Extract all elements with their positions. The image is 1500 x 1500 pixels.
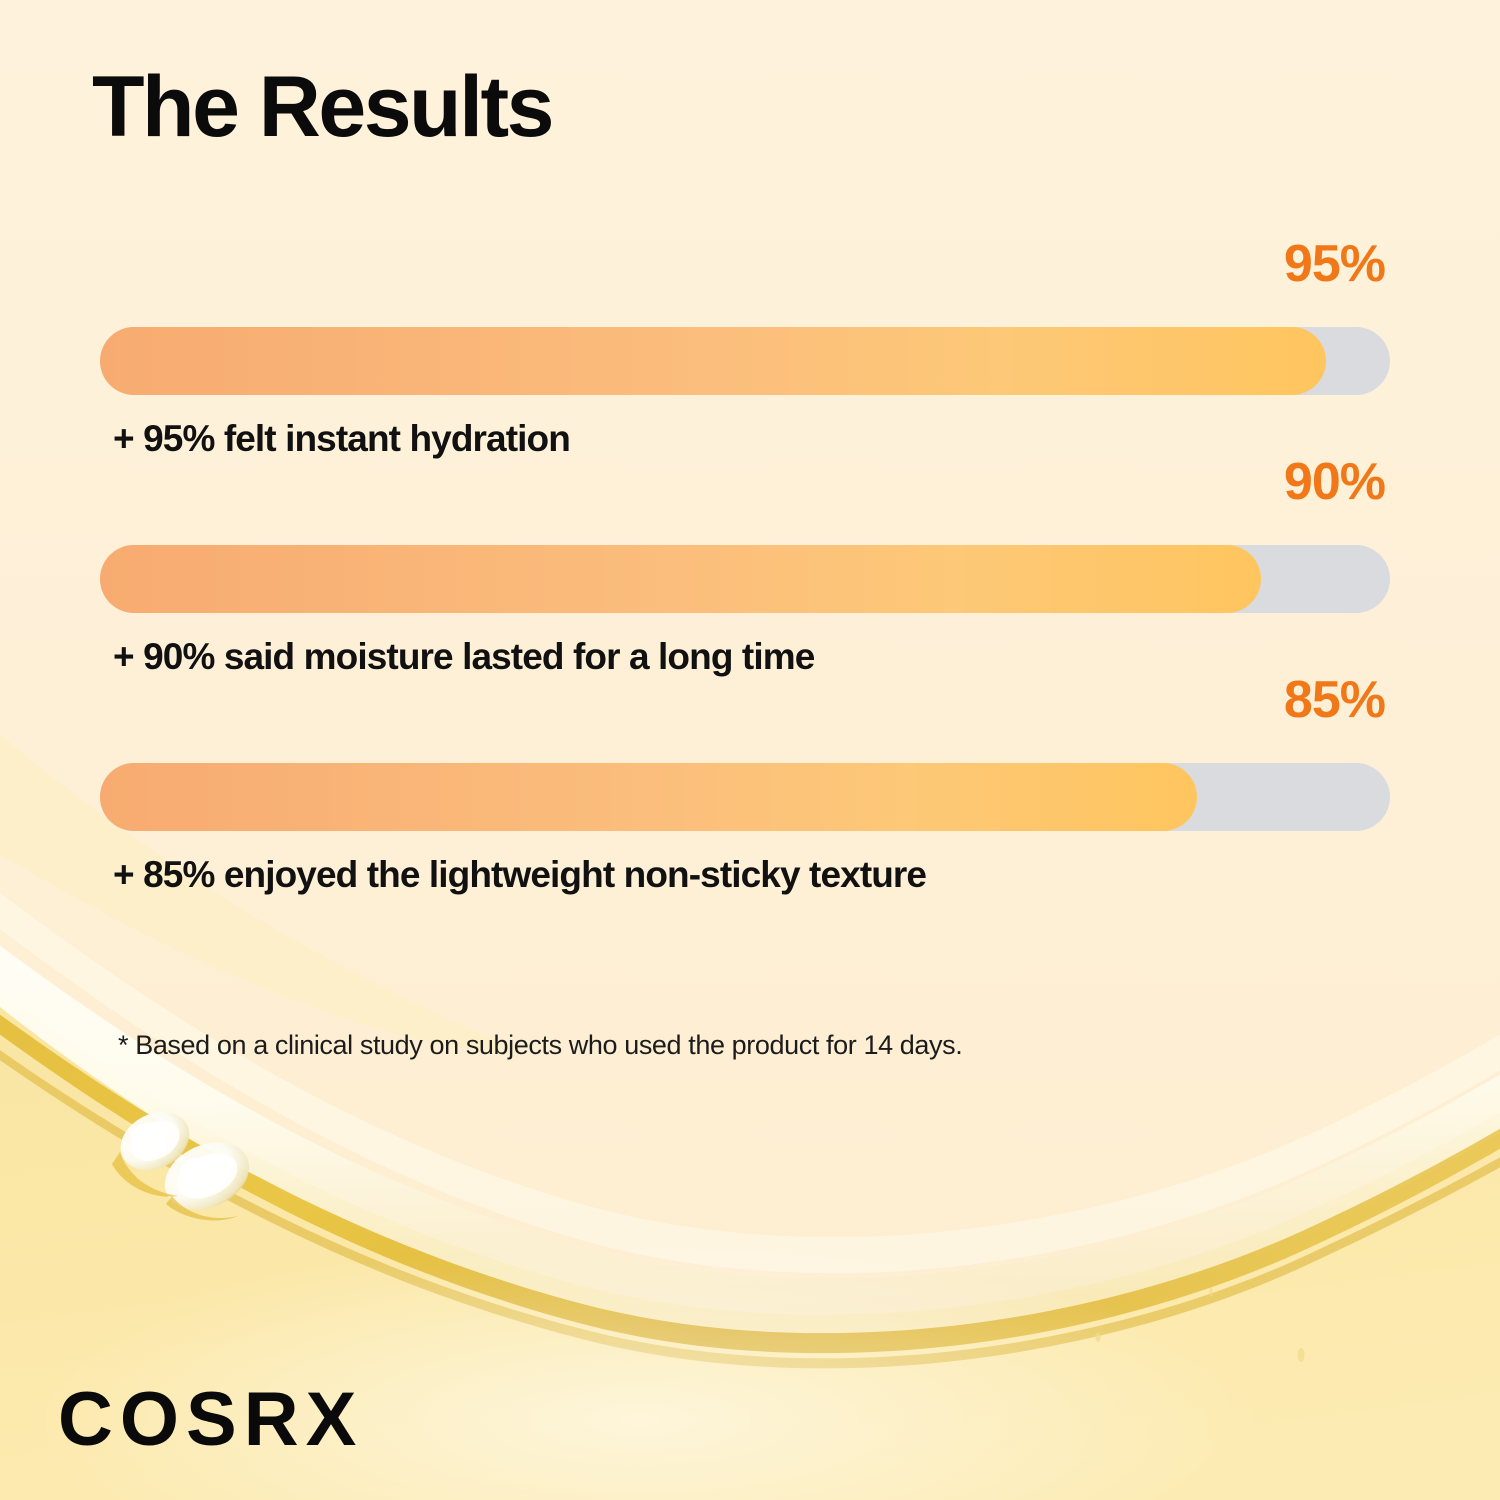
- result-row: 85% + 85% enjoyed the lightweight non-st…: [0, 674, 1500, 892]
- page-title: The Results: [92, 62, 552, 152]
- progress-bar-track: [100, 327, 1390, 395]
- footnote-disclaimer: * Based on a clinical study on subjects …: [118, 1030, 962, 1061]
- result-row: 95% + 95% felt instant hydration: [0, 238, 1500, 456]
- oil-bubble-cluster: [111, 1101, 260, 1223]
- result-row: 90% + 90% said moisture lasted for a lon…: [0, 456, 1500, 674]
- result-value-label: 85%: [1284, 674, 1385, 726]
- result-value-label: 90%: [1284, 456, 1385, 508]
- result-caption: + 85% enjoyed the lightweight non-sticky…: [113, 854, 926, 896]
- progress-bar-fill: [100, 545, 1261, 613]
- result-value-label: 95%: [1284, 238, 1385, 290]
- progress-bar-fill: [100, 763, 1197, 831]
- result-caption: + 95% felt instant hydration: [113, 418, 570, 460]
- result-caption: + 90% said moisture lasted for a long ti…: [113, 636, 814, 678]
- progress-bar-track: [100, 545, 1390, 613]
- progress-bar-fill: [100, 327, 1326, 395]
- promo-graphic: The Results 95% + 95% felt instant hydra…: [0, 0, 1500, 1500]
- cosrx-logo: COSRX: [58, 1382, 363, 1458]
- progress-bar-track: [100, 763, 1390, 831]
- results-chart: 95% + 95% felt instant hydration 90% + 9…: [0, 238, 1500, 892]
